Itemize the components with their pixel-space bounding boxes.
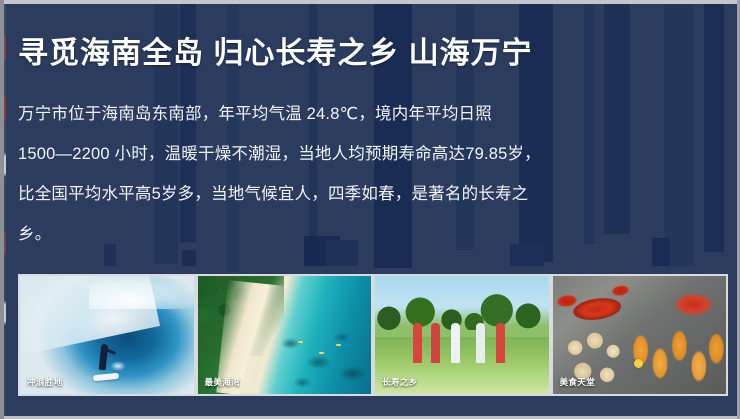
slide-edge-top bbox=[0, 0, 740, 4]
person-figure bbox=[496, 323, 505, 363]
wave-foam bbox=[89, 278, 193, 309]
photo-caption: 冲浪胜地 bbox=[27, 376, 63, 388]
surfboard bbox=[93, 373, 119, 382]
page-title: 寻觅海南全岛 归心长寿之乡 山海万宁 bbox=[18, 28, 533, 72]
shrimp bbox=[629, 321, 726, 394]
photo-most-beautiful-bay[interactable]: 最美海湾 bbox=[198, 276, 372, 394]
photo-food-paradise[interactable]: 美食天堂 bbox=[553, 276, 727, 394]
body-line: 比全国平均水平高5岁多，当地气候宜人，四季如春，是著名的长寿之 bbox=[18, 174, 726, 214]
tree-line bbox=[375, 283, 549, 330]
boat-marker bbox=[298, 341, 303, 343]
person-figure bbox=[476, 323, 485, 363]
body-line: 万宁市位于海南岛东南部，年平均气温 24.8℃，境内年平均日照 bbox=[18, 94, 726, 134]
body-paragraph: 万宁市位于海南岛东南部，年平均气温 24.8℃，境内年平均日照 1500—220… bbox=[18, 94, 726, 254]
person-figure bbox=[451, 323, 460, 363]
water-spray bbox=[110, 361, 126, 371]
photo-caption: 长寿之乡 bbox=[382, 376, 418, 388]
slide-canvas: 寻觅海南全岛 归心长寿之乡 山海万宁 万宁市位于海南岛东南部，年平均气温 24.… bbox=[4, 4, 737, 416]
photo-caption: 美食天堂 bbox=[560, 376, 596, 388]
photo-longevity-hometown[interactable]: 长寿之乡 bbox=[375, 276, 549, 394]
photo-caption: 最美海湾 bbox=[205, 376, 241, 388]
person-figure bbox=[413, 323, 422, 363]
slide-edge-left bbox=[0, 0, 4, 419]
photo-surfing-destination[interactable]: 冲浪胜地 bbox=[20, 276, 194, 394]
coral-reef bbox=[267, 321, 371, 394]
boat-marker bbox=[319, 352, 324, 354]
body-line: 1500—2200 小时，温暖干燥不潮湿，当地人均预期寿命高达79.85岁， bbox=[18, 134, 726, 174]
photo-strip: 冲浪胜地 最美海湾 长寿之乡 bbox=[18, 274, 728, 396]
egg-yolk bbox=[634, 359, 643, 368]
presentation-slide: 寻觅海南全岛 归心长寿之乡 山海万宁 万宁市位于海南岛东南部，年平均气温 24.… bbox=[0, 0, 740, 419]
body-line: 乡。 bbox=[18, 214, 726, 254]
person-figure bbox=[431, 323, 440, 363]
